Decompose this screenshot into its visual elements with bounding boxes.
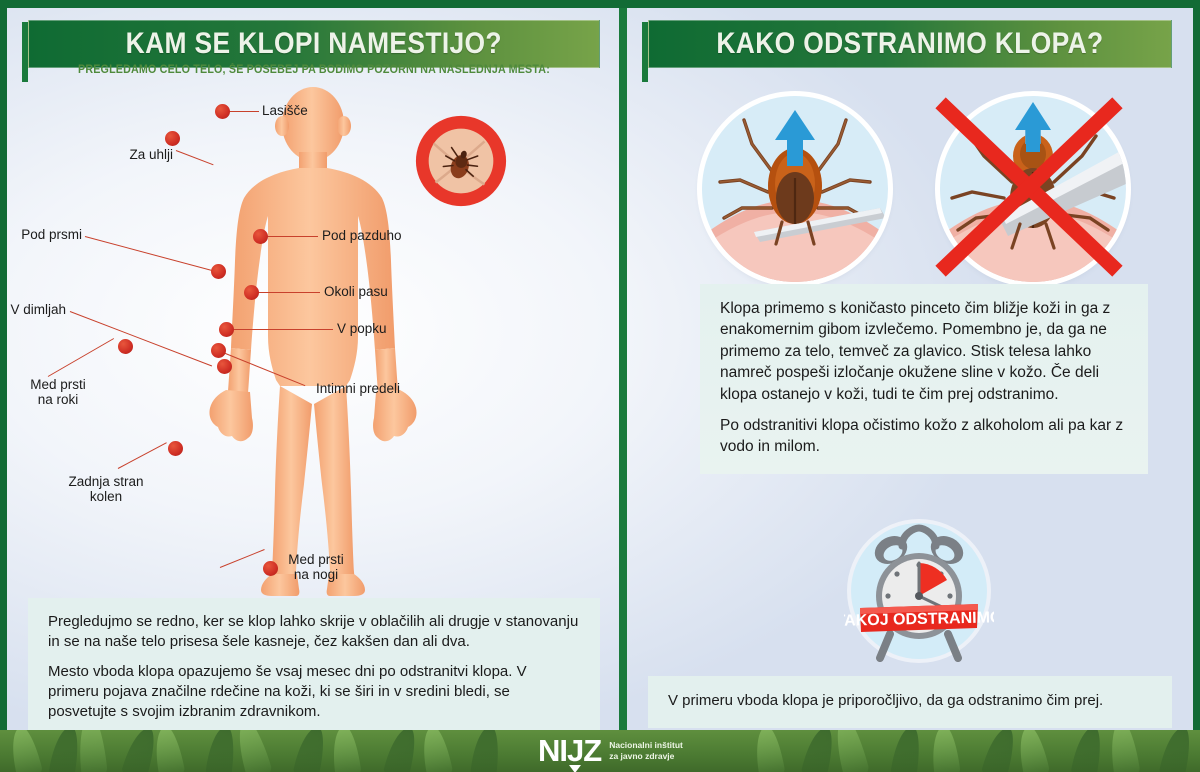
marker-dot-pod-prsmi [211, 264, 226, 279]
label-zadnja-stran-line2: kolen [90, 489, 122, 504]
right-info-box: V primeru vboda klopa je priporočljivo, … [648, 676, 1172, 728]
label-med-prsti-nogi-line1: Med prsti [288, 552, 344, 567]
footer-grass-band: N I J Z Nacionalni inštitut za javno zdr… [0, 730, 1200, 772]
leader-line-zadnja-kolen [118, 442, 167, 469]
marker-dot-med-prsti-roki [118, 339, 133, 354]
label-pod-pazduho: Pod pazduho [322, 228, 402, 243]
marker-dot-lasisce [215, 104, 230, 119]
tick-on-skin-badge-icon [412, 112, 510, 210]
marker-dot-zadnja-kolen [168, 441, 183, 456]
label-za-uhlji: Za uhlji [103, 147, 173, 162]
frame-top-border [0, 0, 1200, 8]
tick-removal-incorrect-illustration [940, 96, 1126, 282]
label-pod-prsmi: Pod prsmi [12, 227, 82, 242]
label-v-dimljah: V dimljah [0, 302, 66, 317]
logo-letter-z: Z [583, 735, 601, 766]
nijz-logo-line1: Nacionalni inštitut [609, 740, 683, 751]
left-info-paragraph-1: Pregledujmo se redno, ker se klop lahko … [48, 612, 580, 652]
leader-line-pod-pazduho [262, 236, 318, 237]
left-panel-subtitle: PREGLEDAMO CELO TELO, ŠE POSEBEJ PA BODI… [48, 64, 580, 76]
left-panel-title: KAM SE KLOPI NAMESTIJO? [126, 27, 502, 61]
left-info-paragraph-2: Mesto vboda klopa opazujemo še vsaj mese… [48, 662, 580, 722]
infographic-poster: KAM SE KLOPI NAMESTIJO? PREGLEDAMO CELO … [0, 0, 1200, 772]
label-med-prsti-nogi-line2: na nogi [294, 567, 338, 582]
marker-dot-v-popku [219, 322, 234, 337]
leader-line-v-popku [228, 329, 333, 330]
right-panel-paragraph-1: Klopa primemo s koničasto pinceto čim bl… [720, 298, 1128, 405]
nijz-logo: N I J Z Nacionalni inštitut za javno zdr… [538, 735, 683, 766]
marker-dot-za-uhlji [165, 131, 180, 146]
right-panel-paragraph-2: Po odstranitivi klopa očistimo kožo z al… [720, 415, 1128, 458]
label-intimni-predeli: Intimni predeli [316, 381, 400, 396]
marker-dot-v-dimljah [217, 359, 232, 374]
right-panel-title: KAKO ODSTRANIMO KLOPA? [716, 27, 1103, 61]
right-panel-header: KAKO ODSTRANIMO KLOPA? [648, 20, 1172, 68]
nijz-logo-line2: za javno zdravje [609, 751, 683, 762]
body-diagram: Lasišče Za uhlji Pod prsmi Pod pazduho O… [28, 86, 600, 596]
label-zadnja-stran-line1: Zadnja stran [68, 474, 143, 489]
frame-right-border [1193, 0, 1200, 772]
logo-letter-n: N [538, 735, 559, 766]
marker-dot-okoli-pasu [244, 285, 259, 300]
left-info-box: Pregledujmo se redno, ker se klop lahko … [28, 598, 600, 738]
nijz-logo-subtitle: Nacionalni inštitut za javno zdravje [609, 740, 683, 761]
clock-badge-label: TAKOJ ODSTRANIMO [844, 609, 994, 629]
panel-divider [619, 8, 627, 736]
leader-line-okoli-pasu [254, 292, 320, 293]
logo-letter-i: I [559, 735, 567, 766]
marker-dot-intimni [211, 343, 226, 358]
label-med-prsti-na-nogi: Med prsti na nogi [268, 552, 364, 582]
label-med-prsti-roki-line2: na roki [38, 392, 79, 407]
marker-dot-pod-pazduho [253, 229, 268, 244]
label-v-popku: V popku [337, 321, 387, 336]
label-lasisce: Lasišče [262, 103, 308, 118]
label-med-prsti-roki-line1: Med prsti [30, 377, 86, 392]
logo-letter-j: J [567, 735, 583, 766]
leader-line-med-prsti-roki [48, 338, 114, 377]
label-okoli-pasu: Okoli pasu [324, 284, 388, 299]
leader-line-lasisce [227, 111, 259, 112]
label-med-prsti-na-roki: Med prsti na roki [6, 377, 110, 407]
tick-removal-correct-illustration [702, 96, 888, 282]
label-zadnja-stran-kolen: Zadnja stran kolen [46, 474, 166, 504]
left-panel-header: KAM SE KLOPI NAMESTIJO? [28, 20, 600, 68]
right-info-note: V primeru vboda klopa je priporočljivo, … [668, 691, 1103, 711]
alarm-clock-badge: TAKOJ ODSTRANIMO [844, 516, 994, 666]
right-panel-text-box: Klopa primemo s koničasto pinceto čim bl… [700, 284, 1148, 474]
nijz-logo-mark: N I J Z [538, 735, 601, 766]
